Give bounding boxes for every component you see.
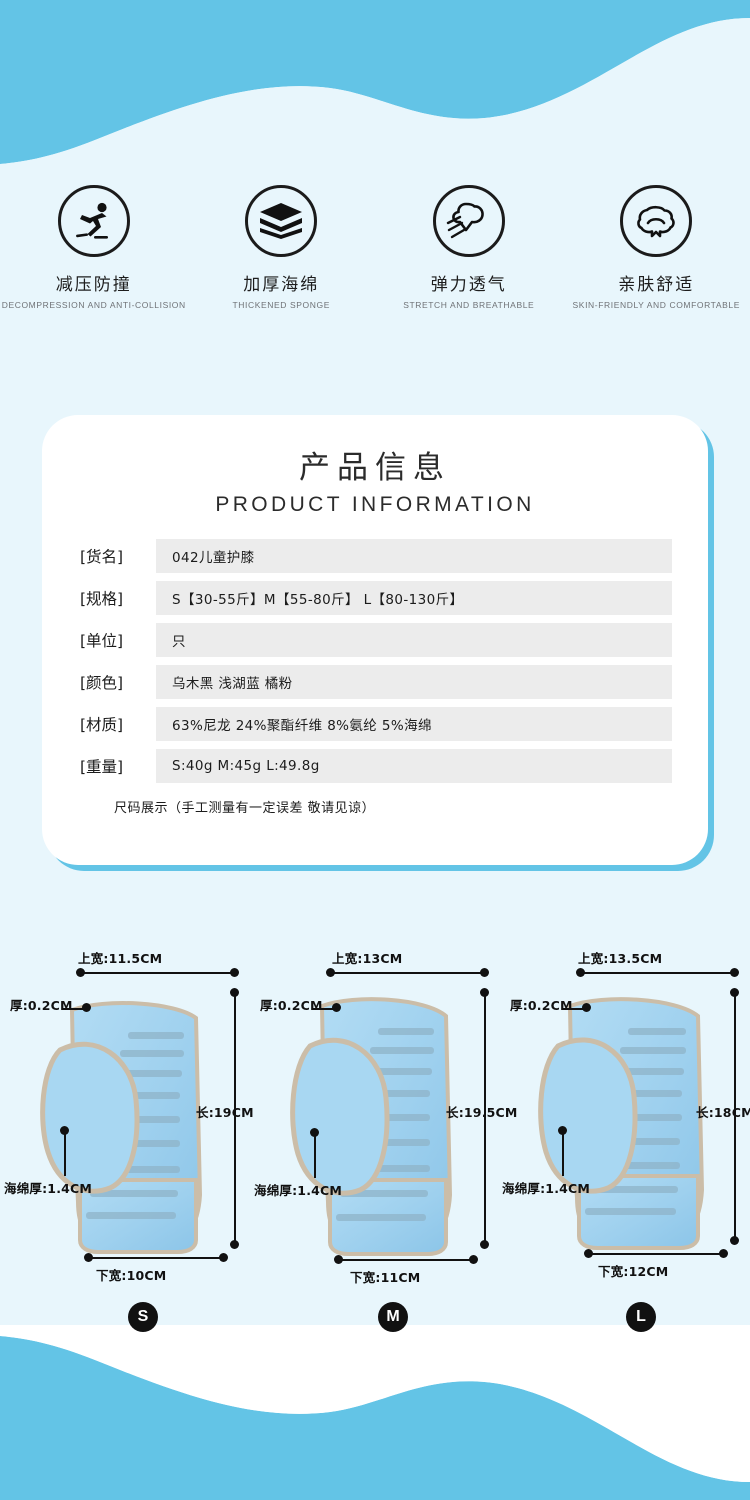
feature-icon-circle: [58, 185, 130, 257]
dim-thickness-m: 厚:0.2CM: [260, 995, 323, 1014]
dim-top-width-m: 上宽:13CM: [332, 948, 402, 967]
spec-row: [材质] 63%尼龙 24%聚酯纤维 8%氨纶 5%海绵: [80, 707, 672, 741]
card-title-en: PRODUCT INFORMATION: [42, 493, 708, 517]
dim-line-bottom-m: [338, 1259, 474, 1261]
dim-dot: [582, 1003, 591, 1012]
dim-dot: [480, 988, 489, 997]
dim-dot: [730, 968, 739, 977]
dim-dot: [576, 968, 585, 977]
dim-length-l: 长:18CM: [696, 1102, 750, 1121]
spec-row: [单位] 只: [80, 623, 672, 657]
spec-label: [货名]: [80, 545, 156, 567]
feature-icon-circle: [245, 185, 317, 257]
dim-line-length-s: [234, 992, 236, 1244]
dim-line-thickness-s: [62, 1008, 84, 1010]
dim-dot: [469, 1255, 478, 1264]
dim-line-bottom-l: [588, 1253, 724, 1255]
feature-label-en: THICKENED SPONGE: [233, 300, 330, 310]
dim-dot: [310, 1128, 319, 1137]
dim-line-sponge-s: [64, 1132, 66, 1176]
dim-dot: [480, 1240, 489, 1249]
size-diagram-m: 上宽:13CM 厚:0.2CM 长:19.5CM 海绵厚:1.4CM 下宽:11…: [250, 940, 500, 1340]
spec-row: [规格] S【30-55斤】M【55-80斤】 L【80-130斤】: [80, 581, 672, 615]
dim-top-width-s: 上宽:11.5CM: [78, 948, 162, 967]
dim-top-width-l: 上宽:13.5CM: [578, 948, 662, 967]
dim-length-s: 长:19CM: [196, 1102, 254, 1121]
dim-line-thickness-l: [562, 1008, 584, 1010]
feature-label-en: STRETCH AND BREATHABLE: [403, 300, 534, 310]
card-body: 产品信息 PRODUCT INFORMATION [货名] 042儿童护膝 [规…: [42, 415, 708, 865]
dim-bottom-width-s: 下宽:10CM: [96, 1265, 166, 1284]
dim-dot: [480, 968, 489, 977]
dim-dot: [230, 968, 239, 977]
size-diagram-s: 上宽:11.5CM 厚:0.2CM 长:19CM 海绵厚:1.4CM 下宽:10…: [0, 940, 250, 1340]
dim-dot: [584, 1249, 593, 1258]
dim-dot: [84, 1253, 93, 1262]
dim-line-thickness-m: [312, 1008, 334, 1010]
spec-label: [重量]: [80, 755, 156, 777]
dim-line-sponge-m: [314, 1134, 316, 1178]
size-badge-m: M: [378, 1302, 408, 1332]
dim-dot: [730, 988, 739, 997]
top-wave-decoration: [0, 0, 750, 175]
feature-icon-circle: [433, 185, 505, 257]
product-information-card: 产品信息 PRODUCT INFORMATION [货名] 042儿童护膝 [规…: [42, 415, 708, 865]
dim-thickness-l: 厚:0.2CM: [510, 995, 573, 1014]
dim-sponge-thickness-l: 海绵厚:1.4CM: [502, 1178, 590, 1197]
size-diagram-l: 上宽:13.5CM 厚:0.2CM 长:18CM 海绵厚:1.4CM 下宽:12…: [500, 940, 750, 1340]
feature-label-cn: 减压防撞: [56, 270, 132, 295]
dim-dot: [82, 1003, 91, 1012]
spec-value: 042儿童护膝: [156, 539, 672, 573]
feature-list: 减压防撞 DECOMPRESSION AND ANTI-COLLISION 加厚…: [0, 185, 750, 310]
spec-value: S:40g M:45g L:49.8g: [156, 749, 672, 783]
dim-line-top-s: [80, 972, 235, 974]
stacked-layers-icon: [258, 201, 304, 241]
dim-dot: [76, 968, 85, 977]
dim-dot: [334, 1255, 343, 1264]
spec-value: 只: [156, 623, 672, 657]
skating-figure-icon: [72, 199, 116, 243]
dim-dot: [60, 1126, 69, 1135]
feature-item-decompression: 减压防撞 DECOMPRESSION AND ANTI-COLLISION: [0, 185, 188, 310]
spec-row: [重量] S:40g M:45g L:49.8g: [80, 749, 672, 783]
feature-icon-circle: [620, 185, 692, 257]
dim-dot: [326, 968, 335, 977]
feature-label-en: SKIN-FRIENDLY AND COMFORTABLE: [573, 300, 740, 310]
card-title-cn: 产品信息: [42, 415, 708, 487]
spec-label: [颜色]: [80, 671, 156, 693]
dim-dot: [719, 1249, 728, 1258]
dim-line-sponge-l: [562, 1132, 564, 1176]
dim-sponge-thickness-m: 海绵厚:1.4CM: [254, 1180, 342, 1199]
dim-thickness-s: 厚:0.2CM: [10, 995, 73, 1014]
dim-line-bottom-s: [88, 1257, 224, 1259]
dim-dot: [230, 988, 239, 997]
spec-label: [材质]: [80, 713, 156, 735]
dim-dot: [230, 1240, 239, 1249]
size-chart-section: 上宽:11.5CM 厚:0.2CM 长:19CM 海绵厚:1.4CM 下宽:10…: [0, 940, 750, 1340]
dim-sponge-thickness-s: 海绵厚:1.4CM: [4, 1178, 92, 1197]
spec-row: [颜色] 乌木黑 浅湖蓝 橘粉: [80, 665, 672, 699]
size-badge-l: L: [626, 1302, 656, 1332]
dim-line-top-m: [330, 972, 485, 974]
dim-line-top-l: [580, 972, 735, 974]
feature-item-thickened-sponge: 加厚海绵 THICKENED SPONGE: [188, 185, 376, 310]
spec-value: 63%尼龙 24%聚酯纤维 8%氨纶 5%海绵: [156, 707, 672, 741]
dim-dot: [558, 1126, 567, 1135]
feature-label-en: DECOMPRESSION AND ANTI-COLLISION: [2, 300, 186, 310]
soft-cloud-icon: [633, 201, 679, 241]
dim-line-length-m: [484, 992, 486, 1244]
feature-label-cn: 亲肤舒适: [618, 270, 694, 295]
spec-label: [规格]: [80, 587, 156, 609]
dim-dot: [730, 1236, 739, 1245]
feature-label-cn: 加厚海绵: [243, 270, 319, 295]
feature-item-breathable: 弹力透气 STRETCH AND BREATHABLE: [375, 185, 563, 310]
feature-item-skin-friendly: 亲肤舒适 SKIN-FRIENDLY AND COMFORTABLE: [563, 185, 750, 310]
dim-line-length-l: [734, 992, 736, 1240]
spec-table: [货名] 042儿童护膝 [规格] S【30-55斤】M【55-80斤】 L【8…: [42, 539, 708, 783]
spec-row: [货名] 042儿童护膝: [80, 539, 672, 573]
size-badge-s: S: [128, 1302, 158, 1332]
dim-dot: [219, 1253, 228, 1262]
dim-bottom-width-l: 下宽:12CM: [598, 1261, 668, 1280]
wind-breath-icon: [446, 200, 492, 242]
size-disclaimer-note: 尺码展示（手工测量有一定误差 敬请见谅）: [42, 797, 708, 816]
spec-value: 乌木黑 浅湖蓝 橘粉: [156, 665, 672, 699]
spec-value: S【30-55斤】M【55-80斤】 L【80-130斤】: [156, 581, 672, 615]
dim-bottom-width-m: 下宽:11CM: [350, 1267, 420, 1286]
spec-label: [单位]: [80, 629, 156, 651]
feature-label-cn: 弹力透气: [431, 270, 507, 295]
bottom-wave-decoration: [0, 1325, 750, 1500]
dim-dot: [332, 1003, 341, 1012]
